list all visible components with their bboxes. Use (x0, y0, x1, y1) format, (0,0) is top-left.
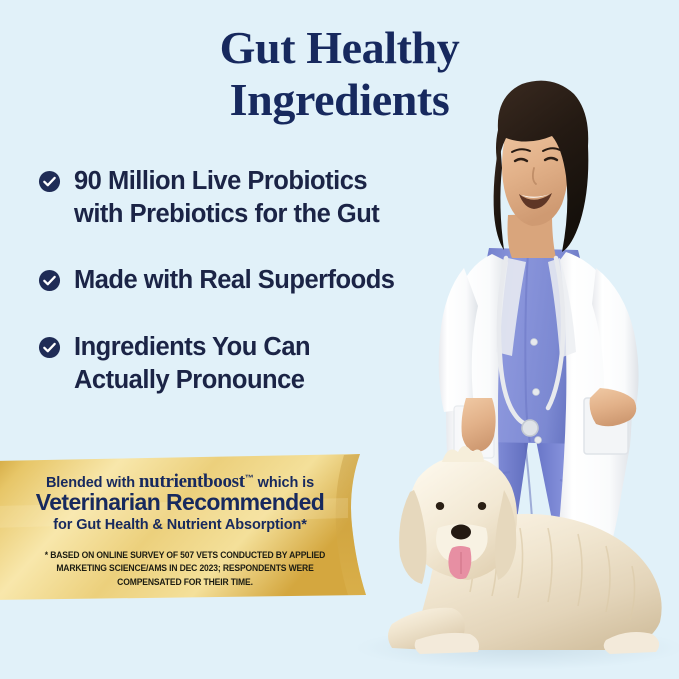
trademark-symbol: ™ (245, 473, 254, 483)
check-circle-icon (38, 269, 61, 292)
headline-line-2: Ingredients (0, 74, 679, 126)
banner-disclaimer: * BASED ON ONLINE SURVEY OF 507 VETS CON… (32, 549, 339, 589)
list-item: 90 Million Live Probiotics with Prebioti… (38, 165, 458, 230)
benefit-text-3: Ingredients You Can Actually Pronounce (74, 331, 310, 396)
check-circle-icon (38, 170, 61, 193)
banner-subclaim: for Gut Health & Nutrient Absorption* (0, 517, 360, 533)
benefit-text-1: 90 Million Live Probiotics with Prebioti… (74, 165, 379, 230)
benefit-text-2: Made with Real Superfoods (74, 264, 394, 297)
list-item: Ingredients You Can Actually Pronounce (38, 331, 458, 396)
stethoscope-icon (499, 258, 563, 424)
headline-line-1: Gut Healthy (220, 22, 460, 73)
veterinarian-recommended-banner: Blended with nutrientboost™ which is Vet… (0, 452, 387, 602)
goldendoodle-figure (388, 446, 662, 654)
check-circle-icon (38, 336, 61, 359)
banner-claim: Veterinarian Recommended (0, 489, 360, 516)
veterinarian-figure (439, 81, 639, 648)
benefits-list: 90 Million Live Probiotics with Prebioti… (38, 165, 458, 396)
page-title: Gut Healthy Ingredients (0, 22, 679, 125)
promo-image-canvas: Gut Healthy Ingredients 90 Million Live … (0, 0, 679, 679)
list-item: Made with Real Superfoods (38, 264, 458, 297)
